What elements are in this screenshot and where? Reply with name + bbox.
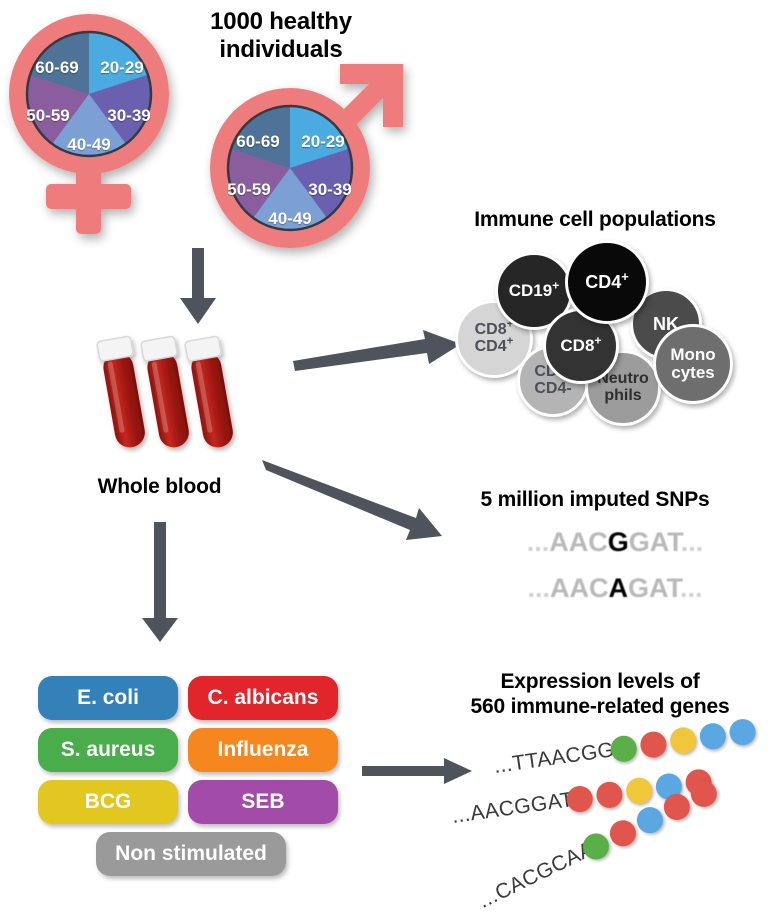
figure-title-immune-cells: Immune cell populations: [430, 208, 760, 233]
expression-bead: [668, 726, 697, 755]
snp-sequence-row: ...AACGGAT...: [470, 527, 760, 558]
expression-strand-sequence: ...CACGCAA: [475, 837, 598, 914]
snp-sequence-block: ...AACGGAT... ...AACAGAT...: [470, 527, 760, 617]
expression-bead: [686, 776, 721, 811]
male-age-pie: [228, 106, 352, 230]
expression-strands: ...TTAACGG ...AACGGAT ...CACGCAA: [452, 740, 762, 915]
figure-canvas: 20-29 30-39 40-49 50-59 60-69: [0, 0, 771, 922]
figure-title-individuals: 1000 healthy individuals: [178, 8, 384, 65]
stimulation-saureus[interactable]: S. aureus: [38, 728, 178, 772]
immune-cell-cluster: CD8+CD4+ CD19+ CD4+ NK CD8+ CD8-CD4- Neu…: [455, 240, 755, 405]
immune-cell-cd4pos: CD4+: [565, 240, 649, 324]
arrow-cohort-to-blood: [178, 248, 218, 326]
expression-strand-sequence: ...AACGGAT: [450, 788, 575, 829]
stimulation-seb[interactable]: SEB: [188, 780, 338, 824]
blood-tube: [141, 336, 194, 450]
stimulation-bcg[interactable]: BCG: [38, 780, 178, 824]
expression-bead: [698, 722, 727, 751]
figure-title-snps: 5 million imputed SNPs: [430, 488, 760, 513]
blood-tube: [97, 336, 150, 450]
female-gender-symbol: 20-29 30-39 40-49 50-59 60-69: [4, 6, 184, 244]
female-age-pie: [27, 32, 151, 156]
expression-bead: [659, 790, 694, 825]
expression-bead: [606, 816, 641, 851]
expression-bead: [632, 803, 667, 838]
figure-title-expression: Expression levels of 560 immune-related …: [440, 670, 760, 720]
arrow-blood-to-immune: [293, 328, 465, 374]
expression-bead: [728, 717, 757, 746]
stimulation-non-stimulated[interactable]: Non stimulated: [96, 832, 286, 876]
expression-bead: [624, 776, 653, 805]
stimulation-grid: E. coli C. albicans S. aureus Influenza …: [38, 676, 338, 856]
snp-sequence-row: ...AACAGAT...: [470, 573, 760, 604]
stimulation-calbicans[interactable]: C. albicans: [188, 676, 338, 720]
stimulation-influenza[interactable]: Influenza: [188, 728, 338, 772]
label-whole-blood: Whole blood: [52, 475, 267, 500]
expression-strand-sequence: ...TTAACGG: [492, 738, 616, 779]
expression-bead: [639, 730, 668, 759]
expression-bead: [595, 780, 624, 809]
blood-tube: [185, 336, 238, 450]
arrow-blood-to-stimulations: [140, 522, 180, 644]
immune-cell-monocytes: Monocytes: [653, 324, 733, 404]
whole-blood-tubes: [96, 330, 256, 480]
male-gender-symbol: 20-29 30-39 40-49 50-59 60-69: [207, 58, 417, 253]
stimulation-ecoli[interactable]: E. coli: [38, 676, 178, 720]
